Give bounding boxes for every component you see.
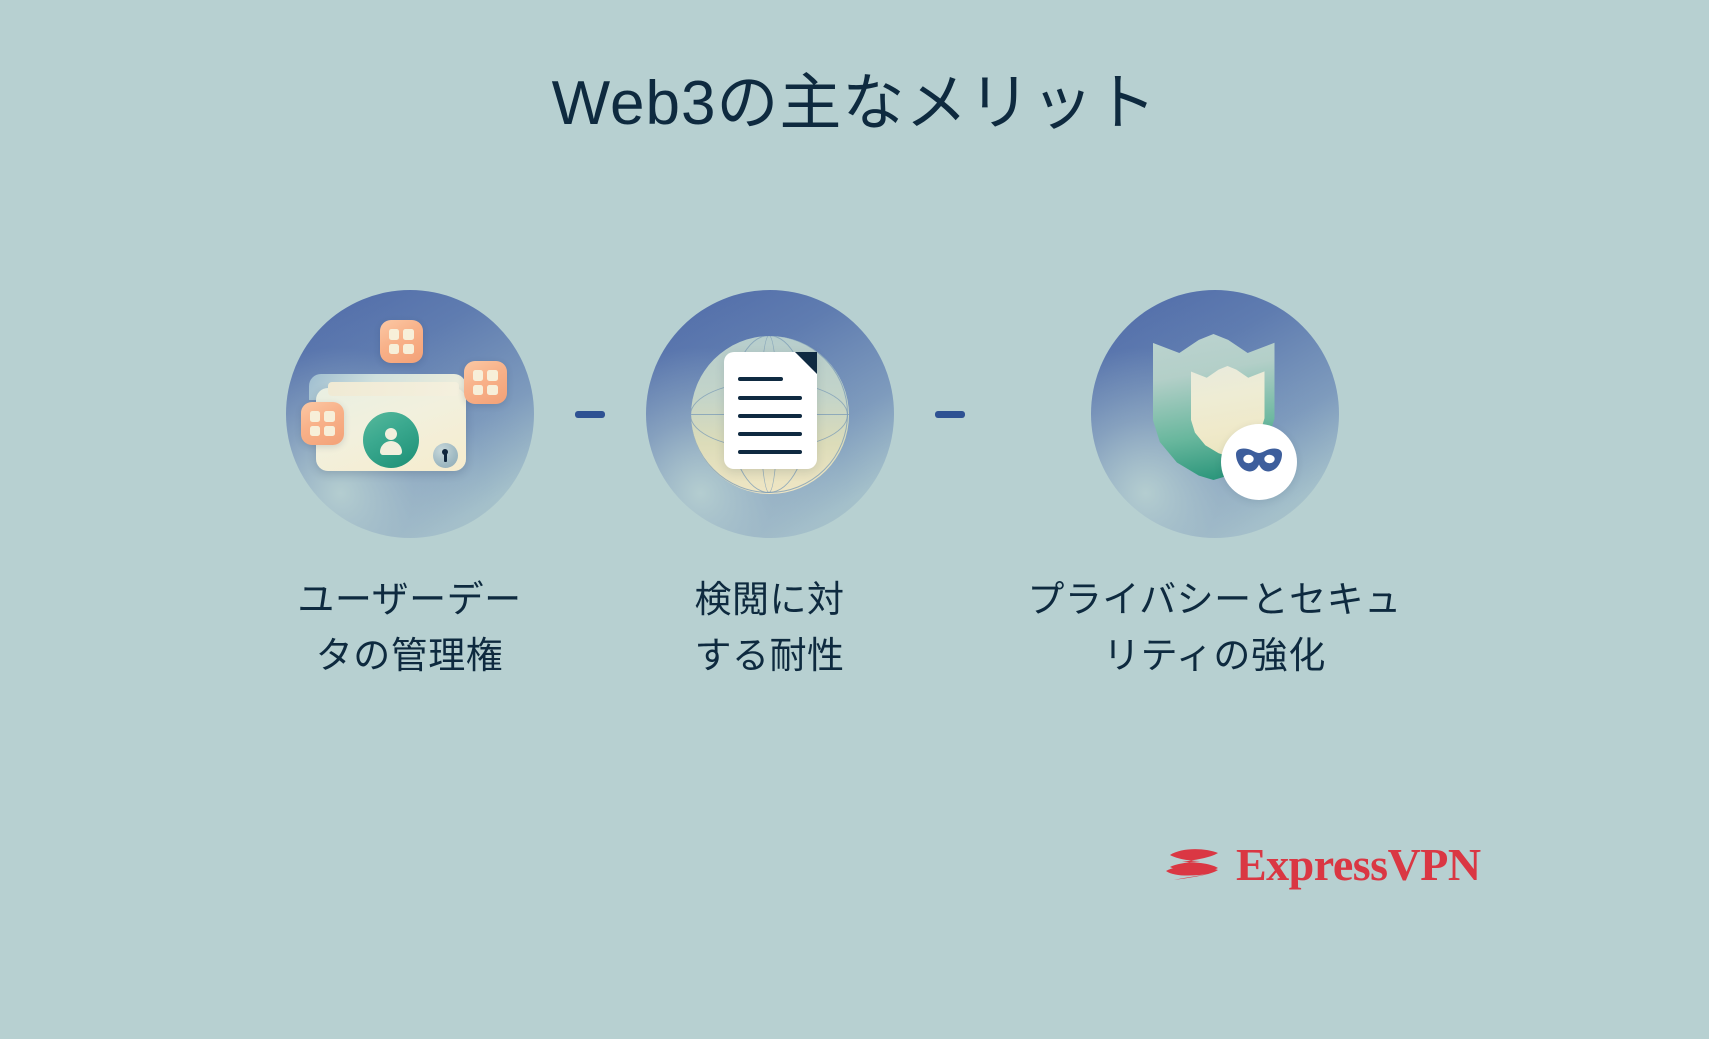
document-fold-corner bbox=[795, 352, 817, 374]
benefit-label-censorship-resistance: 検閲に対 する耐性 bbox=[695, 572, 845, 683]
infographic-canvas: Web3の主なメリット bbox=[0, 0, 1709, 1039]
user-avatar-icon bbox=[363, 412, 419, 468]
page-title: Web3の主なメリット bbox=[0, 68, 1709, 139]
app-tile-icon bbox=[380, 320, 423, 363]
benefits-row: ユーザーデー タの管理権 bbox=[0, 290, 1709, 683]
dash-separator bbox=[560, 290, 620, 538]
benefit-label-line: ユーザーデー bbox=[297, 572, 521, 628]
lock-icon bbox=[433, 443, 458, 468]
benefit-label-line: リティの強化 bbox=[1027, 628, 1401, 684]
expressvpn-wordmark: ExpressVPN bbox=[1236, 842, 1481, 888]
dash-separator-mark bbox=[935, 411, 965, 418]
wallet-card-strip bbox=[328, 382, 459, 396]
benefit-label-privacy-security: プライバシーとセキュ リティの強化 bbox=[1027, 572, 1401, 683]
expressvpn-logo-mark bbox=[1160, 836, 1226, 894]
benefit-item-user-data-control: ユーザーデー タの管理権 bbox=[260, 290, 560, 683]
app-tile-icon bbox=[464, 361, 507, 404]
wallet-user-data-icon bbox=[286, 290, 534, 538]
globe-document-icon bbox=[646, 290, 894, 538]
expressvpn-logo: ExpressVPN bbox=[1160, 836, 1481, 894]
benefit-item-censorship-resistance: 検閲に対 する耐性 bbox=[620, 290, 920, 683]
app-tile-icon bbox=[301, 402, 344, 445]
document-icon bbox=[724, 352, 817, 469]
benefit-label-line: タの管理権 bbox=[297, 628, 521, 684]
benefit-label-line: プライバシーとセキュ bbox=[1027, 572, 1401, 628]
benefit-item-privacy-security: プライバシーとセキュ リティの強化 bbox=[980, 290, 1450, 683]
mask-icon bbox=[1221, 424, 1297, 500]
dash-separator-mark bbox=[575, 411, 605, 418]
shield-mask-icon bbox=[1091, 290, 1339, 538]
benefit-label-user-data-control: ユーザーデー タの管理権 bbox=[297, 572, 521, 683]
benefit-label-line: 検閲に対 bbox=[695, 572, 845, 628]
dash-separator bbox=[920, 290, 980, 538]
benefit-label-line: する耐性 bbox=[695, 628, 845, 684]
